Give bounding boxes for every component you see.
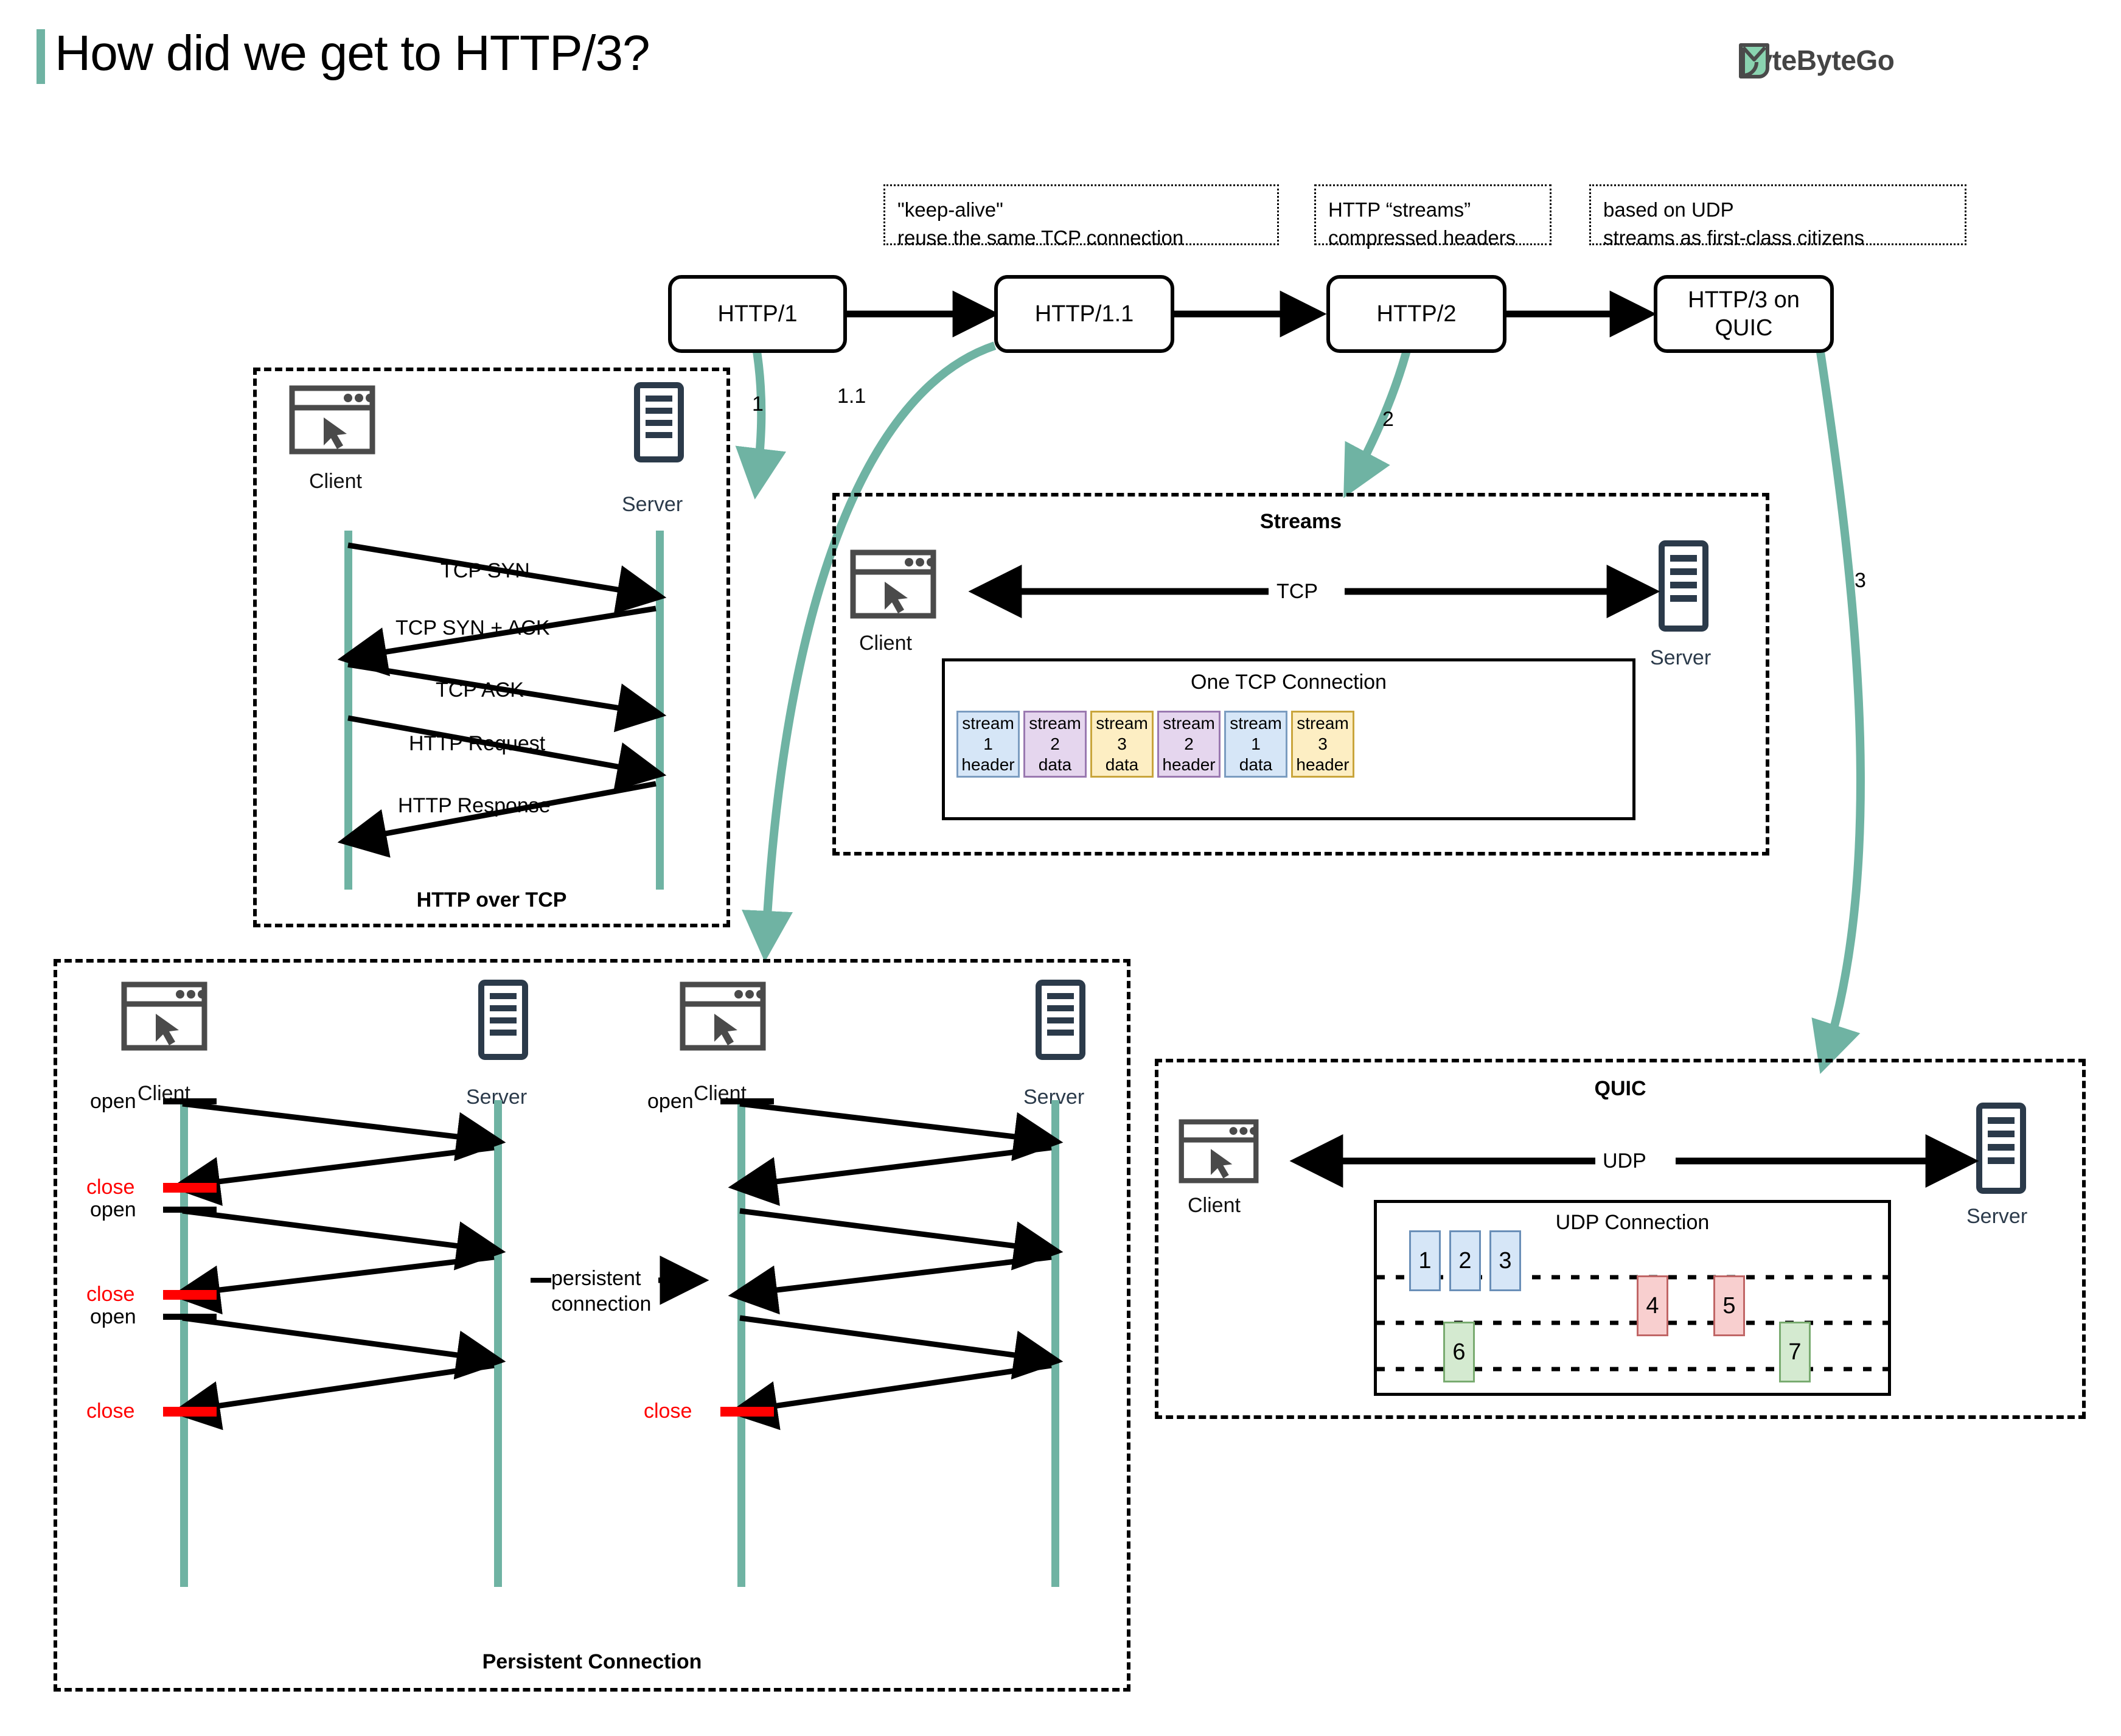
version-box-http3-quic[interactable]: HTTP/3 on QUIC: [1654, 275, 1834, 353]
stream-chip: stream 1header: [956, 711, 1020, 778]
note-http2-features: HTTP “streams” compressed headers: [1314, 184, 1552, 245]
stream-chip-line2: header: [1162, 755, 1215, 775]
step-label-1-1: 1.1: [837, 385, 866, 408]
http-tcp-server-label: Server: [622, 493, 683, 517]
stream-chip: stream 1data: [1224, 711, 1287, 778]
stream-chip-line2: header: [1296, 755, 1349, 775]
note-keep-alive-line1: "keep-alive": [897, 196, 1265, 224]
panel-streams-title: Streams: [832, 510, 1769, 534]
persistent-right-server-lifeline: [1051, 1100, 1059, 1587]
stream-chip-line1: stream 1: [1226, 713, 1286, 755]
version-box-http1-label: HTTP/1: [718, 300, 798, 328]
persistent-left-marker-open-3: open: [90, 1305, 136, 1329]
persistent-left-server-lifeline: [494, 1100, 502, 1587]
persistent-annotation-line1: persistent: [551, 1266, 651, 1291]
streams-transport-label: TCP: [1276, 579, 1318, 604]
udp-packet-7: 7: [1779, 1322, 1811, 1382]
stream-chip-line2: data: [1239, 755, 1273, 775]
version-box-http11[interactable]: HTTP/1.1: [994, 275, 1174, 353]
step-label-2: 2: [1382, 408, 1394, 431]
stream-chip-line1: stream 2: [1025, 713, 1085, 755]
persistent-annotation-line2: connection: [551, 1291, 651, 1317]
note-http3-line1: based on UDP: [1603, 196, 1952, 224]
udp-packet-4: 4: [1637, 1275, 1668, 1336]
udp-packet-1-label: 1: [1418, 1248, 1431, 1274]
stream-chip-line1: stream 3: [1293, 713, 1353, 755]
streams-server-label: Server: [1650, 646, 1711, 670]
udp-packet-1: 1: [1409, 1230, 1441, 1291]
persistent-right-client-browser-icon: [680, 982, 765, 1050]
client-browser-icon: [290, 386, 375, 454]
udp-packet-5: 5: [1713, 1275, 1745, 1336]
stream-chip-line1: stream 1: [958, 713, 1018, 755]
streams-client-browser-icon: [851, 550, 936, 618]
one-tcp-connection-label: One TCP Connection: [942, 671, 1635, 694]
note-keep-alive: "keep-alive" reuse the same TCP connecti…: [883, 184, 1279, 245]
stream-chip: stream 2header: [1157, 711, 1221, 778]
persistent-left-marker-open-1: open: [90, 1089, 136, 1114]
udp-packet-5-label: 5: [1722, 1293, 1735, 1319]
http-tcp-client-lifeline: [344, 531, 352, 890]
udp-packet-3: 3: [1489, 1230, 1521, 1291]
persistent-right-marker-close: close: [644, 1400, 692, 1423]
udp-packet-6-label: 6: [1452, 1339, 1465, 1365]
note-http2-line2: compressed headers: [1328, 224, 1538, 252]
persistent-left-marker-close-3: close: [86, 1400, 134, 1423]
stream-chip-line2: data: [1106, 755, 1139, 775]
step-label-3: 3: [1855, 569, 1866, 593]
streams-client-label: Client: [859, 632, 912, 655]
panel-quic-title: QUIC: [1155, 1077, 2086, 1101]
panel-persistent-connection: [54, 959, 1130, 1692]
version-box-http2[interactable]: HTTP/2: [1326, 275, 1506, 353]
udp-packet-7-label: 7: [1788, 1339, 1801, 1365]
persistent-left-client-browser-icon: [122, 982, 207, 1050]
panel-persistent-connection-title: Persistent Connection: [54, 1650, 1130, 1674]
title-accent-bar: [37, 29, 45, 84]
quic-client-browser-icon: [1179, 1117, 1258, 1185]
http-tcp-server-lifeline: [656, 531, 664, 890]
persistent-left-marker-close-1: close: [86, 1176, 134, 1199]
udp-packet-4-label: 4: [1646, 1293, 1659, 1319]
quic-server-icon: [1976, 1103, 2026, 1194]
server-icon: [634, 382, 684, 462]
persistent-annotation: persistent connection: [551, 1266, 651, 1317]
message-label-http-response: HTTP Response: [398, 793, 551, 818]
quic-server-label: Server: [1966, 1205, 2027, 1229]
bytebytego-logo: ByteByteGo: [1737, 44, 1894, 77]
panel-http-over-tcp-title: HTTP over TCP: [253, 888, 730, 912]
note-http3-features: based on UDP streams as first-class citi…: [1589, 184, 1966, 245]
persistent-right-client-lifeline: [737, 1100, 745, 1587]
streams-server-icon: [1659, 540, 1708, 632]
stream-chip-line2: data: [1039, 755, 1072, 775]
message-label-tcp-syn: TCP SYN: [441, 559, 530, 583]
message-label-tcp-ack: TCP ACK: [436, 678, 524, 702]
udp-packet-2: 2: [1449, 1230, 1481, 1291]
quic-client-label: Client: [1188, 1194, 1241, 1218]
stream-chip: stream 3header: [1291, 711, 1354, 778]
stream-chip: stream 2data: [1023, 711, 1087, 778]
page-title: How did we get to HTTP/3?: [55, 23, 650, 84]
stream-chip-line2: header: [961, 755, 1014, 775]
note-http3-line2: streams as first-class citizens: [1603, 224, 1952, 252]
note-keep-alive-line2: reuse the same TCP connection: [897, 224, 1265, 252]
udp-packet-3-label: 3: [1499, 1248, 1511, 1274]
quic-transport-label: UDP: [1603, 1149, 1646, 1173]
persistent-right-server-icon: [1036, 980, 1085, 1060]
stream-chip-row: stream 1headerstream 2datastream 3datast…: [956, 711, 1354, 778]
persistent-left-marker-open-2: open: [90, 1197, 136, 1222]
udp-packet-6: 6: [1443, 1322, 1475, 1382]
version-box-http11-label: HTTP/1.1: [1035, 300, 1134, 328]
stream-chip-line1: stream 3: [1092, 713, 1152, 755]
stream-chip-line1: stream 2: [1159, 713, 1219, 755]
udp-packet-2-label: 2: [1458, 1248, 1471, 1274]
bytebytego-mark-icon: [1737, 41, 1771, 79]
message-label-http-request: HTTP Request: [409, 731, 545, 756]
version-box-http3-quic-label: HTTP/3 on QUIC: [1657, 286, 1830, 342]
persistent-right-marker-open: open: [647, 1089, 694, 1114]
stream-chip: stream 3data: [1090, 711, 1154, 778]
version-box-http1[interactable]: HTTP/1: [668, 275, 847, 353]
step-label-1: 1: [752, 392, 764, 416]
note-http2-line1: HTTP “streams”: [1328, 196, 1538, 224]
http-tcp-client-label: Client: [309, 470, 362, 493]
message-label-tcp-syn-ack: TCP SYN + ACK: [395, 616, 550, 640]
persistent-left-server-icon: [478, 980, 528, 1060]
persistent-left-client-lifeline: [180, 1100, 188, 1587]
persistent-left-marker-close-2: close: [86, 1283, 134, 1306]
version-box-http2-label: HTTP/2: [1377, 300, 1457, 328]
